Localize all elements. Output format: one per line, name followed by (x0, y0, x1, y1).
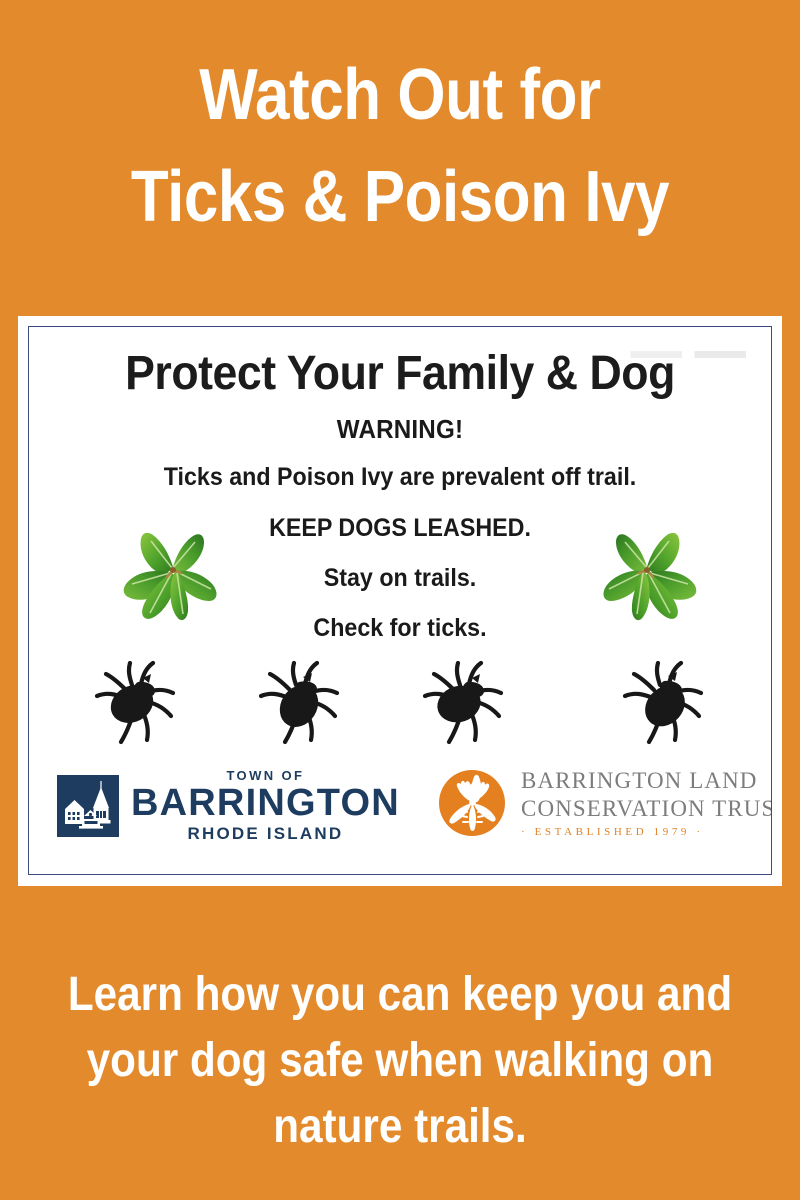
sign-line-check-for-ticks: Check for ticks. (55, 614, 745, 643)
sign-logo-row: TOWN OF BARRINGTON RHODE ISLAND (29, 767, 771, 867)
sign-title: Protect Your Family & Dog (55, 349, 745, 399)
caption-line-3: nature trails. (48, 1094, 752, 1160)
blct-wordmark: BARRINGTON LAND CONSERVATION TRUST · EST… (521, 767, 772, 838)
blct-established-label: · ESTABLISHED 1979 · (521, 826, 772, 838)
tick-icon (85, 652, 189, 748)
blct-line-1: BARRINGTON LAND (521, 767, 772, 795)
headline-line-2: Ticks & Poison Ivy (56, 146, 744, 248)
caption-line-1: Learn how you can keep you and (48, 962, 752, 1028)
barrington-land-conservation-trust-logo: BARRINGTON LAND CONSERVATION TRUST · EST… (437, 767, 772, 838)
tick-icon (249, 652, 353, 748)
page-caption: Learn how you can keep you and your dog … (48, 962, 752, 1161)
barrington-name-label: BARRINGTON (131, 784, 400, 823)
headline-line-1: Watch Out for (56, 44, 744, 146)
caption-line-2: your dog safe when walking on (48, 1028, 752, 1094)
warning-sign-card: Protect Your Family & Dog WARNING! Ticks… (18, 316, 782, 886)
town-hall-building-icon (57, 775, 119, 837)
barrington-state-label: RHODE ISLAND (131, 825, 400, 844)
barrington-town-of-label: TOWN OF (131, 769, 400, 783)
sign-text-block: Protect Your Family & Dog WARNING! Ticks… (29, 327, 771, 643)
tick-icon (413, 652, 517, 748)
barrington-wordmark: TOWN OF BARRINGTON RHODE ISLAND (131, 769, 400, 844)
sign-line-prevalent: Ticks and Poison Ivy are prevalent off t… (55, 463, 745, 492)
warning-sign-panel: Protect Your Family & Dog WARNING! Ticks… (28, 326, 772, 875)
leaf-cluster-icon (437, 768, 507, 838)
tick-icon (613, 652, 717, 748)
sign-warning-label: WARNING! (55, 414, 745, 445)
blct-line-2: CONSERVATION TRUST (521, 795, 772, 823)
sign-line-keep-dogs-leashed: KEEP DOGS LEASHED. (55, 514, 745, 543)
sign-line-stay-on-trails: Stay on trails. (55, 564, 745, 593)
town-of-barrington-logo: TOWN OF BARRINGTON RHODE ISLAND (57, 769, 400, 844)
page-headline: Watch Out for Ticks & Poison Ivy (56, 44, 744, 248)
